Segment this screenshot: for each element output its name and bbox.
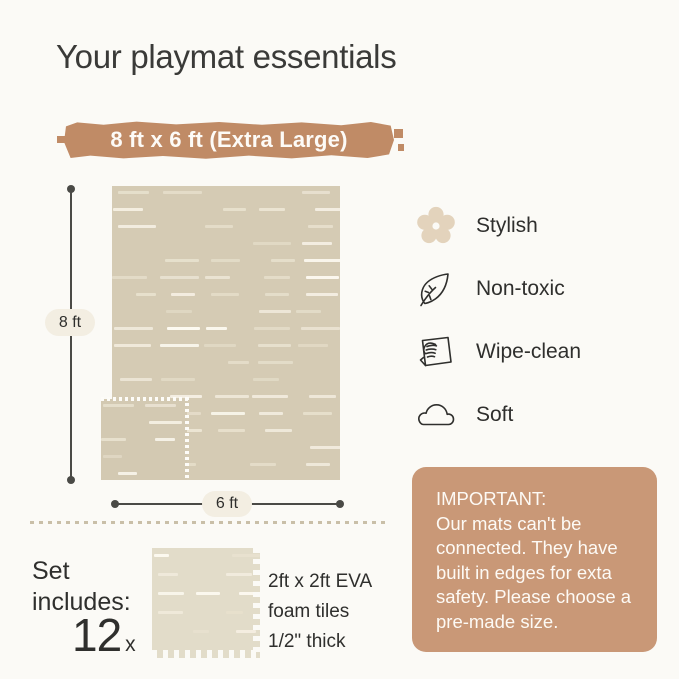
mat-pattern-dash <box>308 225 332 228</box>
mat-pattern-dash <box>158 592 184 595</box>
banner-brush-flake <box>398 144 404 151</box>
sample-tile-puzzle-edge-right <box>253 548 261 658</box>
feature-item-soft: Soft <box>414 383 664 446</box>
mat-pattern-dash <box>310 446 340 449</box>
feature-label: Soft <box>476 403 513 427</box>
feature-item-stylish: Stylish <box>414 194 664 257</box>
mat-pattern-dash <box>218 429 245 432</box>
mat-pattern-dash <box>193 630 209 633</box>
mat-pattern-dash <box>160 276 199 279</box>
mat-pattern-dash <box>163 191 202 194</box>
important-notice-text: IMPORTANT: Our mats can't be connected. … <box>436 487 635 635</box>
mat-pattern-dash <box>298 344 327 347</box>
width-label: 6 ft <box>202 491 252 517</box>
mat-pattern-dash <box>302 191 331 194</box>
mat-pattern-dash <box>258 361 293 364</box>
mat-pattern-dash <box>113 208 144 211</box>
mat-pattern-dash <box>161 378 195 381</box>
wipe-cloth-icon <box>414 330 458 374</box>
mat-pattern-dash <box>265 293 289 296</box>
tile-puzzle-edge-top <box>101 397 189 401</box>
mat-pattern-dash <box>166 310 192 313</box>
mat-pattern-dash <box>205 276 230 279</box>
mat-pattern-dash <box>296 310 321 313</box>
mat-pattern-dash <box>226 573 251 576</box>
mat-pattern-dash <box>304 259 340 262</box>
leaf-icon <box>414 267 458 311</box>
size-banner: 8 ft x 6 ft (Extra Large) <box>64 120 394 160</box>
mat-pattern-dash <box>223 208 246 211</box>
tile-count-suffix: x <box>125 633 136 657</box>
mat-pattern-dash <box>103 455 122 458</box>
mat-pattern-dash <box>154 554 170 557</box>
mat-pattern-dash <box>165 259 199 262</box>
important-notice-box: IMPORTANT: Our mats can't be connected. … <box>412 467 657 652</box>
height-dimension-cap-bottom <box>67 476 75 484</box>
feature-label: Non-toxic <box>476 277 565 301</box>
set-includes-count: 12 x <box>72 608 136 662</box>
mat-pattern-dash <box>250 463 275 466</box>
mat-pattern-dash <box>118 472 138 475</box>
mat-pattern-dash <box>306 293 338 296</box>
width-dimension-cap-right <box>336 500 344 508</box>
mat-pattern-dash <box>252 395 287 398</box>
mat-pattern-dash <box>302 242 333 245</box>
mat-pattern-dash <box>315 208 340 211</box>
mat-pattern-dash <box>118 225 156 228</box>
mat-pattern-dash <box>114 327 153 330</box>
mat-pattern-dash <box>309 395 336 398</box>
mat-pattern-dash <box>211 259 240 262</box>
infographic-root: Your playmat essentials 8 ft x 6 ft (Ext… <box>0 0 679 679</box>
mat-pattern-dash <box>306 463 331 466</box>
mat-pattern-dash <box>228 361 249 364</box>
mat-pattern-dash <box>171 293 196 296</box>
flower-icon <box>414 204 458 248</box>
mat-pattern-dash <box>145 404 176 407</box>
feature-list: Stylish Non-toxic <box>414 194 664 446</box>
cloud-icon <box>414 393 458 437</box>
tile-puzzle-edge-right <box>185 397 189 481</box>
mat-pattern-dash <box>136 293 156 296</box>
mat-pattern-dash <box>253 378 278 381</box>
mat-pattern-dash <box>158 573 178 576</box>
tile-description: 2ft x 2ft EVA foam tiles 1/2" thick <box>268 567 372 657</box>
mat-pattern-dash <box>103 404 133 407</box>
mat-pattern-dash <box>211 412 244 415</box>
mat-pattern-dash <box>259 412 283 415</box>
mat-pattern-dash <box>112 276 147 279</box>
mat-pattern-dash <box>101 438 126 441</box>
mat-pattern-dash <box>167 327 200 330</box>
width-dimension-cap-left <box>111 500 119 508</box>
mat-pattern-dash <box>114 344 151 347</box>
mat-pattern-dash <box>160 344 198 347</box>
mat-pattern-dash <box>265 429 293 432</box>
tile-count-number: 12 <box>72 608 121 662</box>
mat-pattern-dash <box>158 611 183 614</box>
mat-pattern-dash <box>254 327 289 330</box>
mat-pattern-dash <box>301 327 340 330</box>
height-dimension-cap-top <box>67 185 75 193</box>
mat-pattern-dash <box>264 276 290 279</box>
mat-pattern-dash <box>155 438 175 441</box>
mat-pattern-dash <box>205 225 233 228</box>
feature-label: Stylish <box>476 214 538 238</box>
mat-pattern-dash <box>118 191 149 194</box>
mat-pattern-dash <box>206 327 227 330</box>
mat-pattern-dash <box>258 344 291 347</box>
dotted-divider <box>30 521 385 524</box>
mat-pattern-dash <box>149 421 182 424</box>
mat-pattern-dash <box>271 259 295 262</box>
feature-item-non-toxic: Non-toxic <box>414 257 664 320</box>
mat-pattern-dash <box>196 592 220 595</box>
mat-pattern-dash <box>211 293 239 296</box>
mat-pattern-dash <box>259 208 286 211</box>
banner-brush-flake <box>394 129 403 138</box>
height-label: 8 ft <box>45 309 95 336</box>
sample-tile-puzzle-edge-bottom <box>152 650 261 658</box>
mat-pattern-dash <box>306 276 339 279</box>
mat-pattern-dash <box>259 310 292 313</box>
size-banner-label: 8 ft x 6 ft (Extra Large) <box>64 120 394 160</box>
feature-item-wipe-clean: Wipe-clean <box>414 320 664 383</box>
mat-pattern-dash <box>226 611 243 614</box>
mat-pattern-dash <box>303 412 332 415</box>
single-tile-overlay <box>101 399 187 480</box>
mat-pattern-dash <box>120 378 151 381</box>
mat-pattern-dash <box>215 395 249 398</box>
page-title: Your playmat essentials <box>56 38 396 76</box>
mat-pattern-dash <box>253 242 291 245</box>
sample-tile-illustration <box>152 548 260 658</box>
mat-pattern-dash <box>204 344 235 347</box>
feature-label: Wipe-clean <box>476 340 581 364</box>
